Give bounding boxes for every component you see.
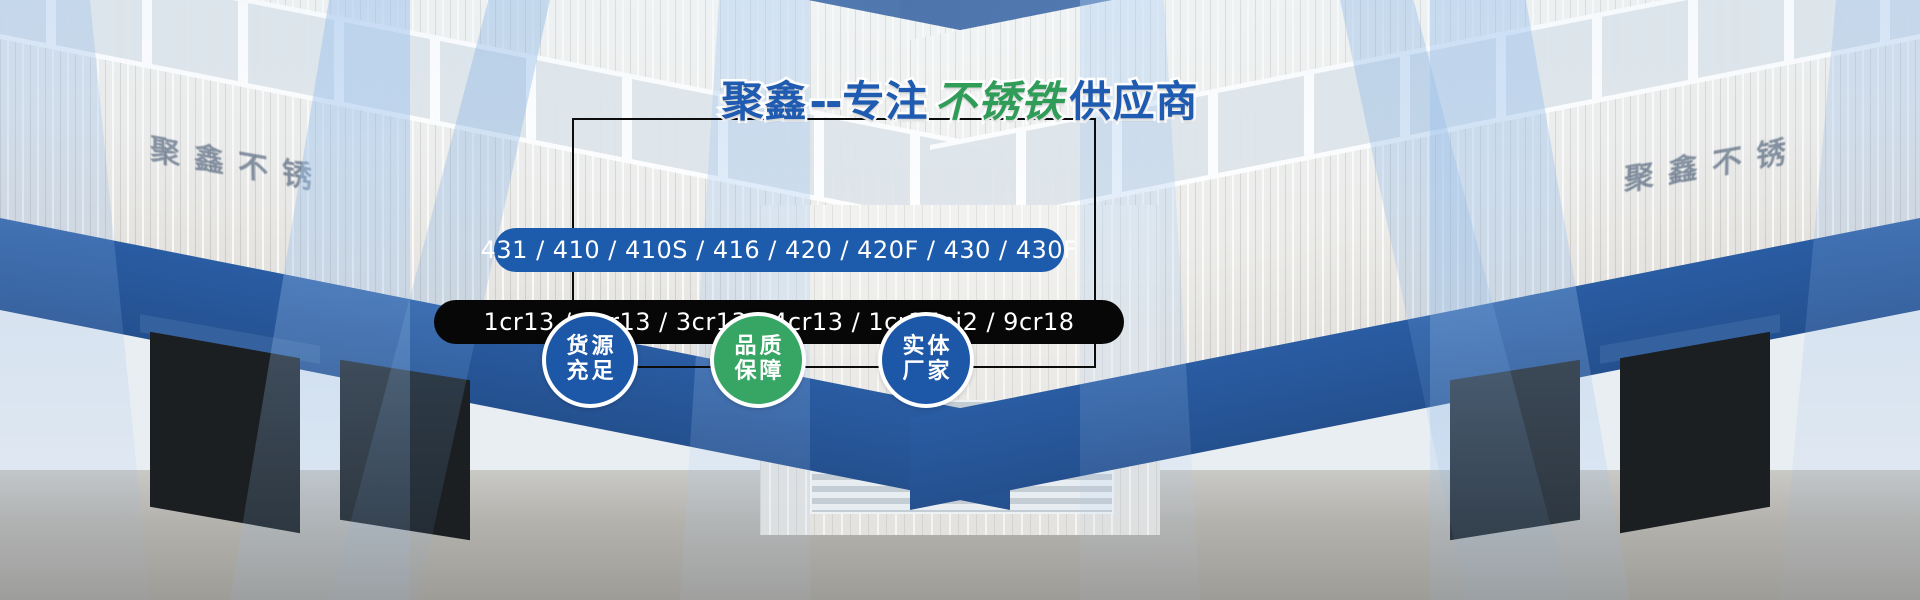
badge-factory: 实体 厂家 bbox=[878, 312, 974, 408]
headline-dash: -- bbox=[808, 81, 843, 123]
badge-quality-line1: 品质 bbox=[731, 335, 784, 360]
headline-tail: 供应商 bbox=[1069, 81, 1198, 123]
badge-group: 货源 充足 品质 保障 实体 厂家 bbox=[520, 312, 1040, 422]
badge-supply-line2: 充足 bbox=[563, 360, 616, 385]
grade-pill-primary: 431 / 410 / 410S / 416 / 420 / 420F / 43… bbox=[494, 228, 1064, 272]
badge-factory-line2: 厂家 bbox=[899, 360, 952, 385]
headline-brand: 聚鑫 bbox=[722, 81, 808, 123]
badge-quality-line2: 保障 bbox=[731, 360, 784, 385]
headline: 聚鑫 -- 专注 不锈铁 供应商 bbox=[0, 74, 1920, 130]
badge-quality: 品质 保障 bbox=[710, 312, 806, 408]
badge-supply: 货源 充足 bbox=[542, 312, 638, 408]
badge-factory-line1: 实体 bbox=[899, 335, 952, 360]
badge-supply-line1: 货源 bbox=[563, 335, 616, 360]
headline-highlight: 不锈铁 bbox=[928, 81, 1069, 123]
headline-focus: 专注 bbox=[842, 81, 928, 123]
promo-banner: 聚鑫不锈 聚鑫不锈 聚鑫 -- 专注 不锈铁 供应商 431 / 410 / 4… bbox=[0, 0, 1920, 600]
